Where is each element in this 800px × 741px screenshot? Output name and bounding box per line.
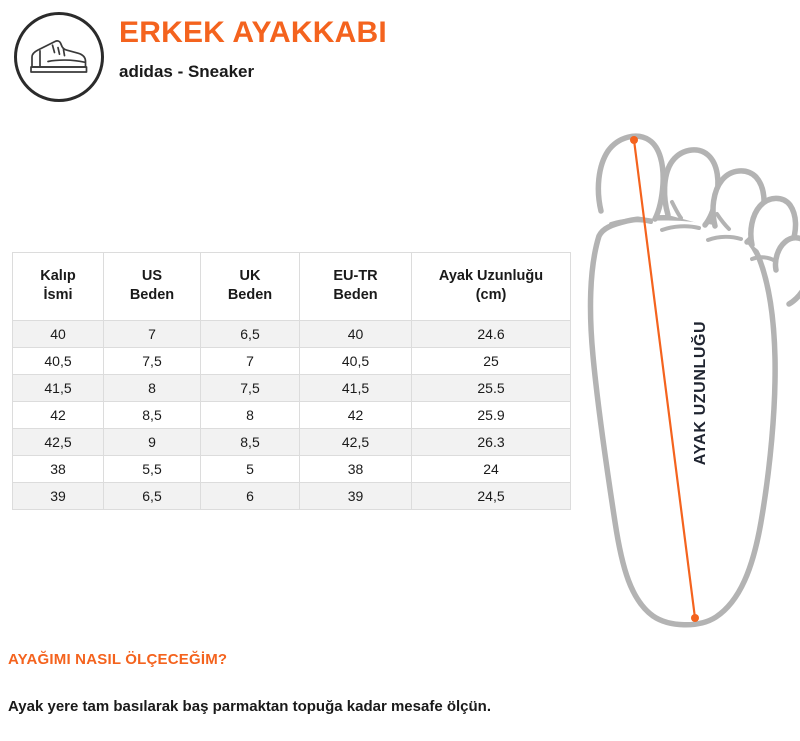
cell-uk: 6,5 <box>201 321 300 348</box>
measure-instructions-note: Ayak yere tam basılarak baş parmaktan to… <box>8 669 608 717</box>
cell-uk: 6 <box>201 483 300 510</box>
cell-uk: 7,5 <box>201 375 300 402</box>
cell-length-cm: 24,5 <box>412 483 571 510</box>
cell-us: 6,5 <box>104 483 201 510</box>
table-row: 41,5 8 7,5 41,5 25.5 <box>13 375 571 402</box>
column-header-line1: Kalıp <box>17 267 99 286</box>
column-header-eu-tr-beden: EU-TR Beden <box>300 253 412 321</box>
foot-diagram <box>575 118 800 643</box>
page-subtitle: adidas - Sneaker <box>119 50 589 82</box>
header-text-block: ERKEK AYAKKABI adidas - Sneaker <box>119 16 589 82</box>
column-header-ayak-uzunlugu: Ayak Uzunluğu (cm) <box>412 253 571 321</box>
size-table-body: 40 7 6,5 40 24.6 40,5 7,5 7 40,5 25 41,5… <box>13 321 571 510</box>
measure-instructions: AYAĞIMI NASIL ÖLÇECEĞİM? Ayak yere tam b… <box>8 650 608 717</box>
column-header-line1: Ayak Uzunluğu <box>416 267 566 286</box>
cell-length-cm: 24.6 <box>412 321 571 348</box>
cell-us: 8 <box>104 375 201 402</box>
size-table: Kalıp İsmi US Beden UK Beden EU-TR Beden… <box>12 252 571 510</box>
cell-kalip: 39 <box>13 483 104 510</box>
table-row: 39 6,5 6 39 24,5 <box>13 483 571 510</box>
size-table-container: Kalıp İsmi US Beden UK Beden EU-TR Beden… <box>12 252 570 510</box>
cell-eu-tr: 41,5 <box>300 375 412 402</box>
column-header-line2: Beden <box>205 286 295 305</box>
cell-uk: 5 <box>201 456 300 483</box>
cell-us: 7,5 <box>104 348 201 375</box>
cell-kalip: 42,5 <box>13 429 104 456</box>
cell-us: 9 <box>104 429 201 456</box>
cell-kalip: 41,5 <box>13 375 104 402</box>
cell-uk: 7 <box>201 348 300 375</box>
column-header-line2: (cm) <box>416 286 566 305</box>
table-row: 42,5 9 8,5 42,5 26.3 <box>13 429 571 456</box>
sneaker-shoe-icon <box>28 36 90 78</box>
cell-length-cm: 24 <box>412 456 571 483</box>
page-title: ERKEK AYAKKABI <box>119 16 589 50</box>
column-header-kalip-ismi: Kalıp İsmi <box>13 253 104 321</box>
shoe-badge <box>14 12 104 102</box>
cell-us: 8,5 <box>104 402 201 429</box>
column-header-line2: Beden <box>108 286 196 305</box>
cell-length-cm: 25.5 <box>412 375 571 402</box>
table-row: 38 5,5 5 38 24 <box>13 456 571 483</box>
table-row: 42 8,5 8 42 25.9 <box>13 402 571 429</box>
column-header-line1: US <box>108 267 196 286</box>
cell-eu-tr: 40,5 <box>300 348 412 375</box>
cell-kalip: 38 <box>13 456 104 483</box>
cell-uk: 8,5 <box>201 429 300 456</box>
cell-eu-tr: 39 <box>300 483 412 510</box>
cell-kalip: 42 <box>13 402 104 429</box>
column-header-line2: İsmi <box>17 286 99 305</box>
table-row: 40 7 6,5 40 24.6 <box>13 321 571 348</box>
measure-instructions-heading: AYAĞIMI NASIL ÖLÇECEĞİM? <box>8 650 608 669</box>
cell-length-cm: 25 <box>412 348 571 375</box>
cell-uk: 8 <box>201 402 300 429</box>
column-header-line2: Beden <box>304 286 407 305</box>
column-header-line1: EU-TR <box>304 267 407 286</box>
cell-eu-tr: 40 <box>300 321 412 348</box>
cell-kalip: 40,5 <box>13 348 104 375</box>
cell-kalip: 40 <box>13 321 104 348</box>
page-header: ERKEK AYAKKABI adidas - Sneaker <box>0 0 600 110</box>
table-header-row: Kalıp İsmi US Beden UK Beden EU-TR Beden… <box>13 253 571 321</box>
cell-length-cm: 25.9 <box>412 402 571 429</box>
cell-us: 5,5 <box>104 456 201 483</box>
cell-length-cm: 26.3 <box>412 429 571 456</box>
column-header-uk-beden: UK Beden <box>201 253 300 321</box>
column-header-us-beden: US Beden <box>104 253 201 321</box>
table-row: 40,5 7,5 7 40,5 25 <box>13 348 571 375</box>
cell-us: 7 <box>104 321 201 348</box>
cell-eu-tr: 38 <box>300 456 412 483</box>
column-header-line1: UK <box>205 267 295 286</box>
cell-eu-tr: 42 <box>300 402 412 429</box>
cell-eu-tr: 42,5 <box>300 429 412 456</box>
